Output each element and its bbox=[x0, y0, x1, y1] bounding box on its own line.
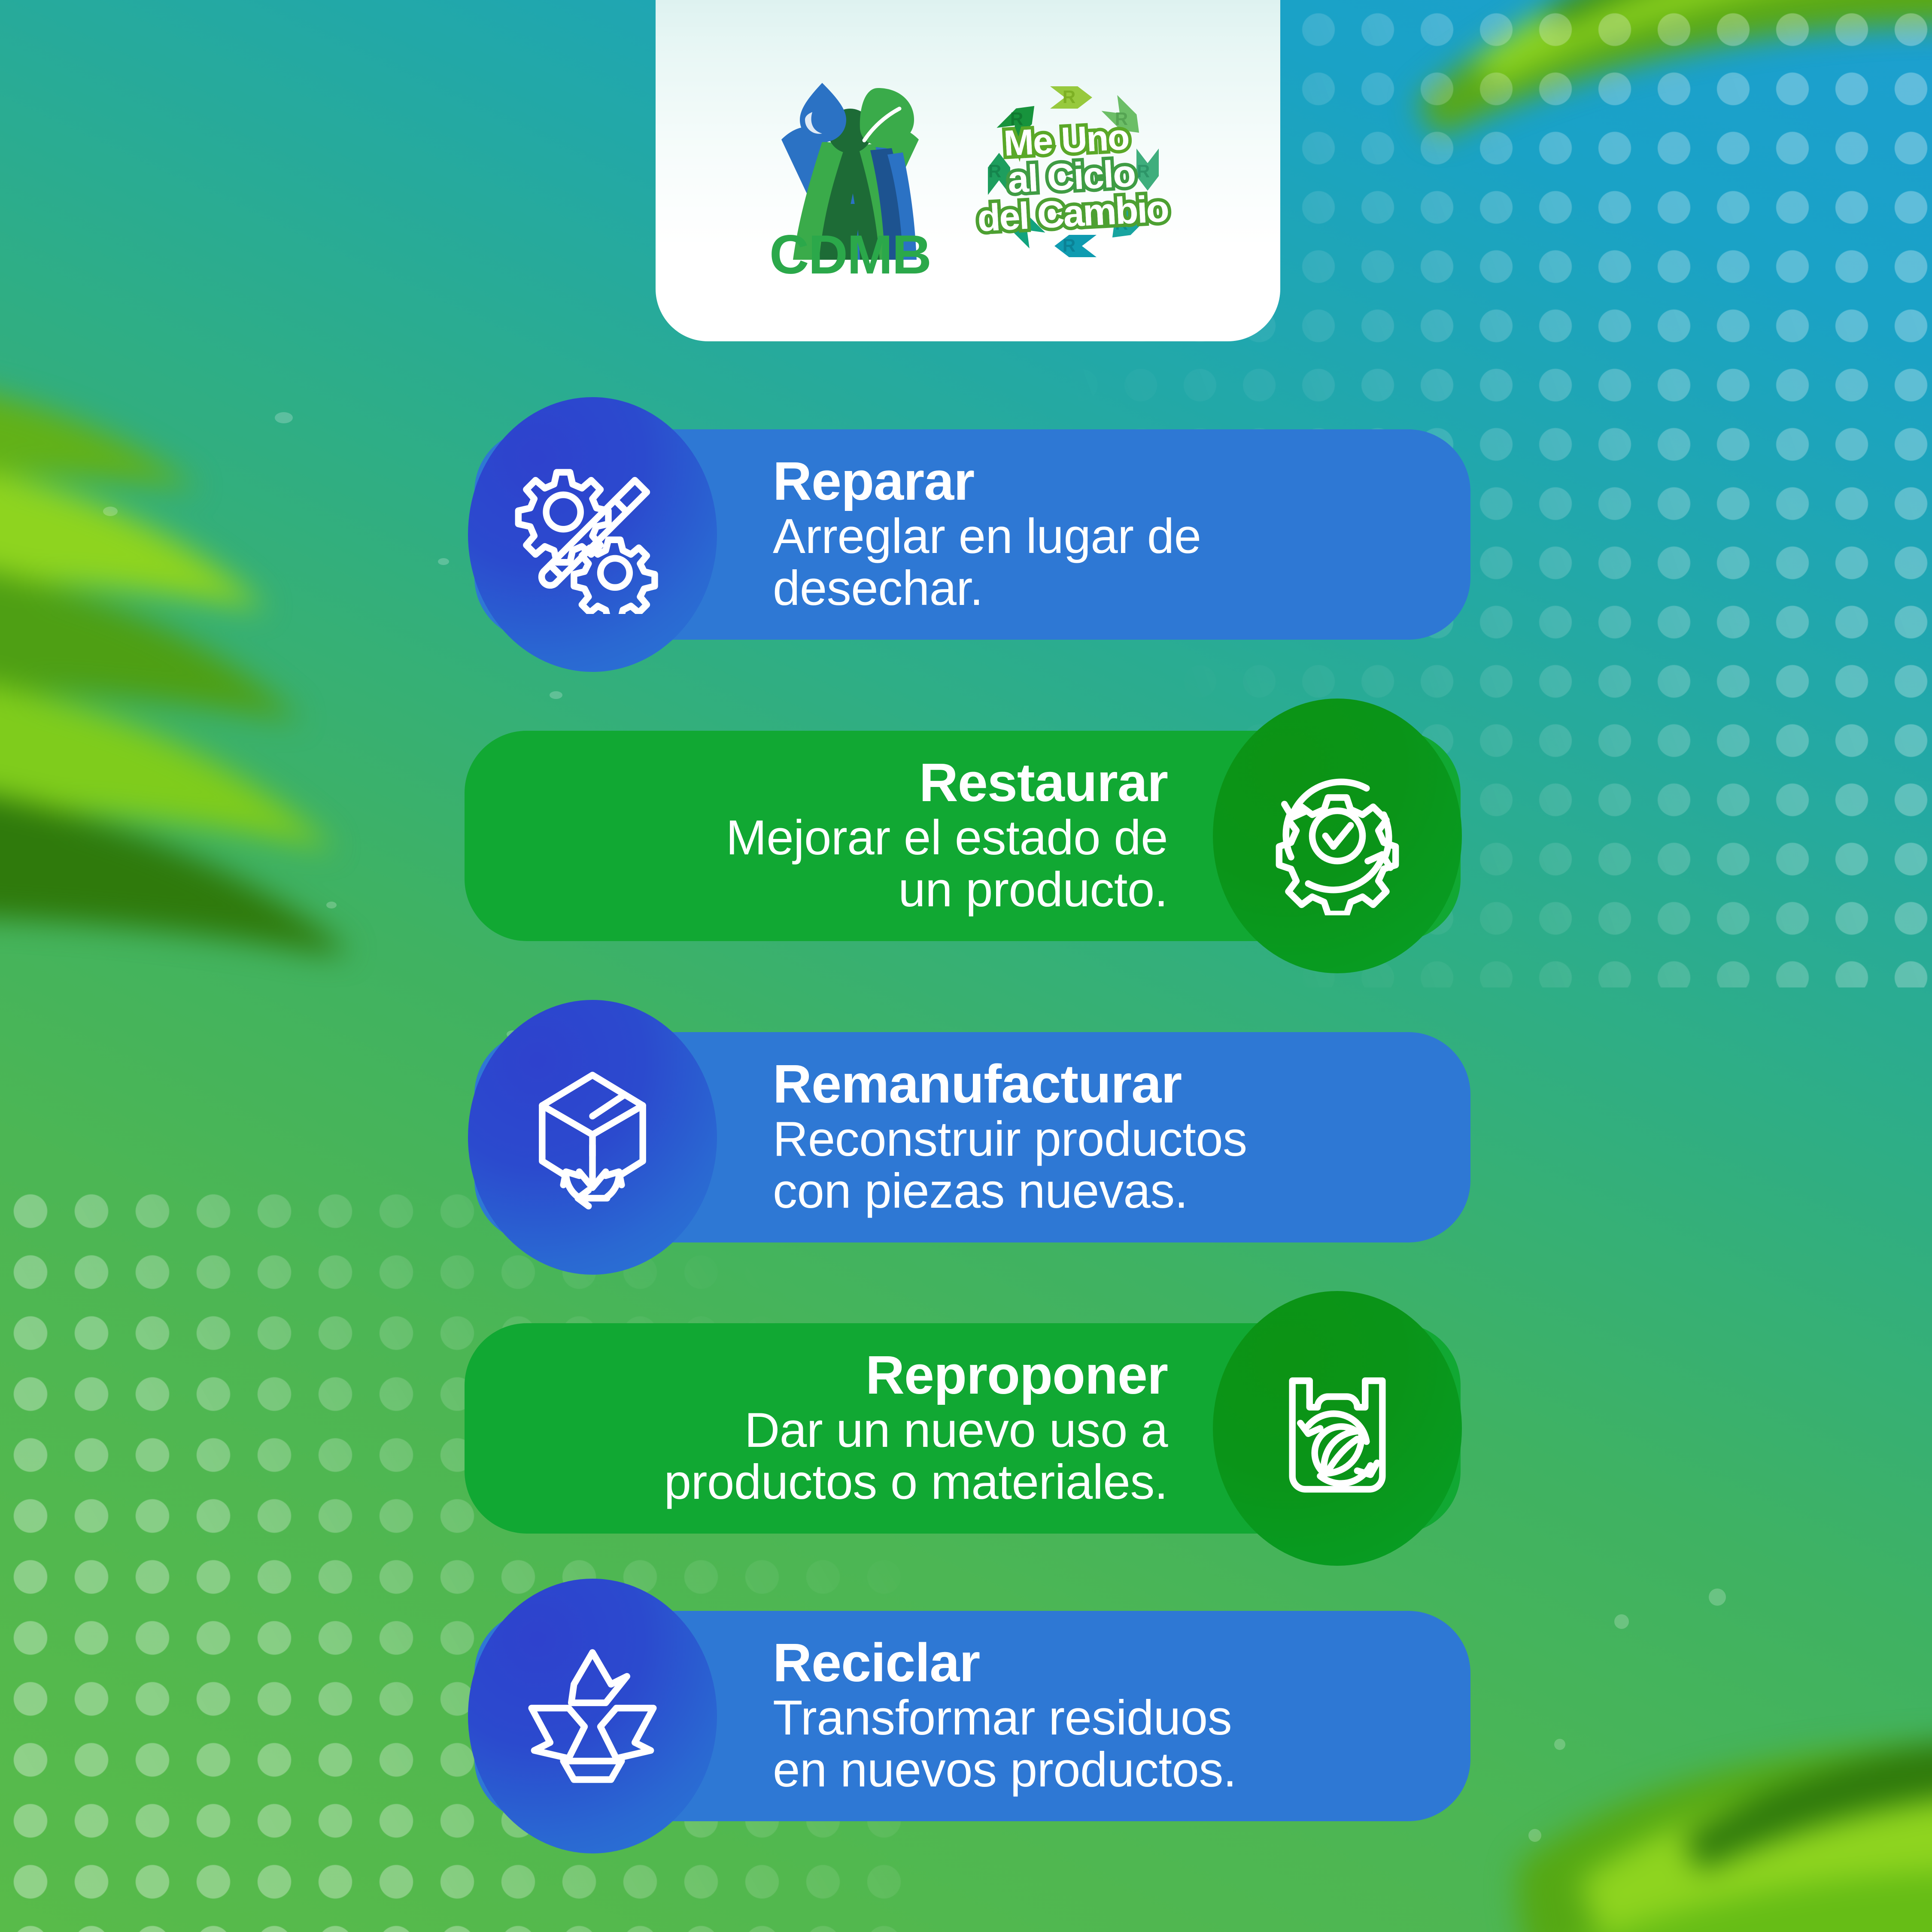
card-title: Remanufacturar bbox=[773, 1057, 1182, 1111]
card-description: Transformar residuos en nuevos productos… bbox=[773, 1692, 1236, 1796]
card-text: Restaurar Mejorar el estado de un produc… bbox=[489, 731, 1168, 941]
gears-screwdriver-icon bbox=[513, 455, 672, 614]
recycle-symbol-icon bbox=[513, 1637, 672, 1795]
card-description: Mejorar el estado de un producto. bbox=[726, 812, 1168, 916]
card-title: Reciclar bbox=[773, 1636, 980, 1690]
shopping-bag-leaf-icon bbox=[1258, 1349, 1417, 1508]
card-title: Restaurar bbox=[919, 756, 1168, 810]
card-description: Dar un nuevo uso a productos o materiale… bbox=[664, 1405, 1168, 1509]
card-description: Arreglar en lugar de desechar. bbox=[773, 511, 1201, 615]
card-icon-bubble bbox=[468, 397, 717, 672]
card-text: Remanufacturar Reconstruir productos con… bbox=[773, 1032, 1447, 1242]
card-icon-bubble bbox=[1213, 699, 1462, 973]
card-title: Reproponer bbox=[866, 1348, 1168, 1402]
card-icon-bubble bbox=[468, 1579, 717, 1853]
card-text: Reciclar Transformar residuos en nuevos … bbox=[773, 1611, 1447, 1821]
infographic-canvas: CDMB R R R bbox=[0, 0, 1932, 1932]
card-icon-bubble bbox=[468, 1000, 717, 1275]
card-text: Reparar Arreglar en lugar de desechar. bbox=[773, 429, 1443, 640]
card-text: Reproponer Dar un nuevo uso a productos … bbox=[477, 1323, 1168, 1534]
box-recycle-icon bbox=[513, 1058, 672, 1217]
card-icon-bubble bbox=[1213, 1291, 1462, 1566]
card-title: Reparar bbox=[773, 454, 974, 508]
gear-check-cycle-icon bbox=[1258, 756, 1417, 915]
card-description: Reconstruir productos con piezas nuevas. bbox=[773, 1114, 1247, 1218]
